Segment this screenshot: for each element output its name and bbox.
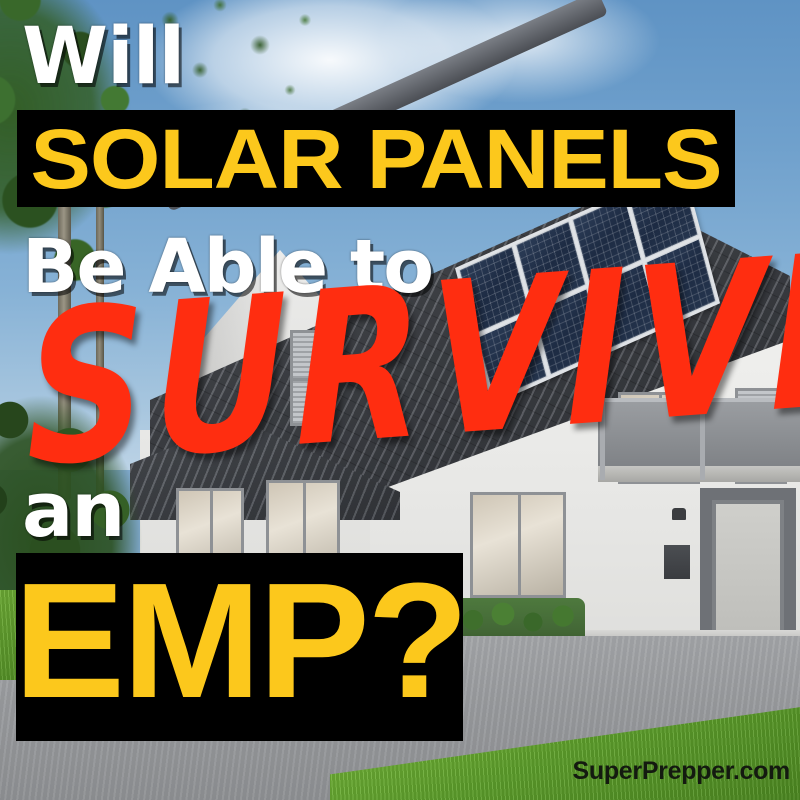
site-watermark: SuperPrepper.com [572,757,790,786]
headline-line-emp: EMP? [13,559,465,723]
headline-line-will: Will [22,18,184,96]
headline-line-survive: SURVIVE [24,223,800,497]
headline-line-an: an [22,472,123,548]
entry-door [712,500,784,650]
headline-line-solar-panels: SOLAR PANELS [30,117,721,201]
headline-band-emp: EMP? [16,553,463,741]
wall-lamp [672,508,686,520]
headline-band-solar-panels: SOLAR PANELS [17,110,735,207]
utility-box [664,545,690,579]
window-ground-floor [470,492,566,598]
poster-canvas: Will SOLAR PANELS Be Able to SURVIVE an … [0,0,800,800]
